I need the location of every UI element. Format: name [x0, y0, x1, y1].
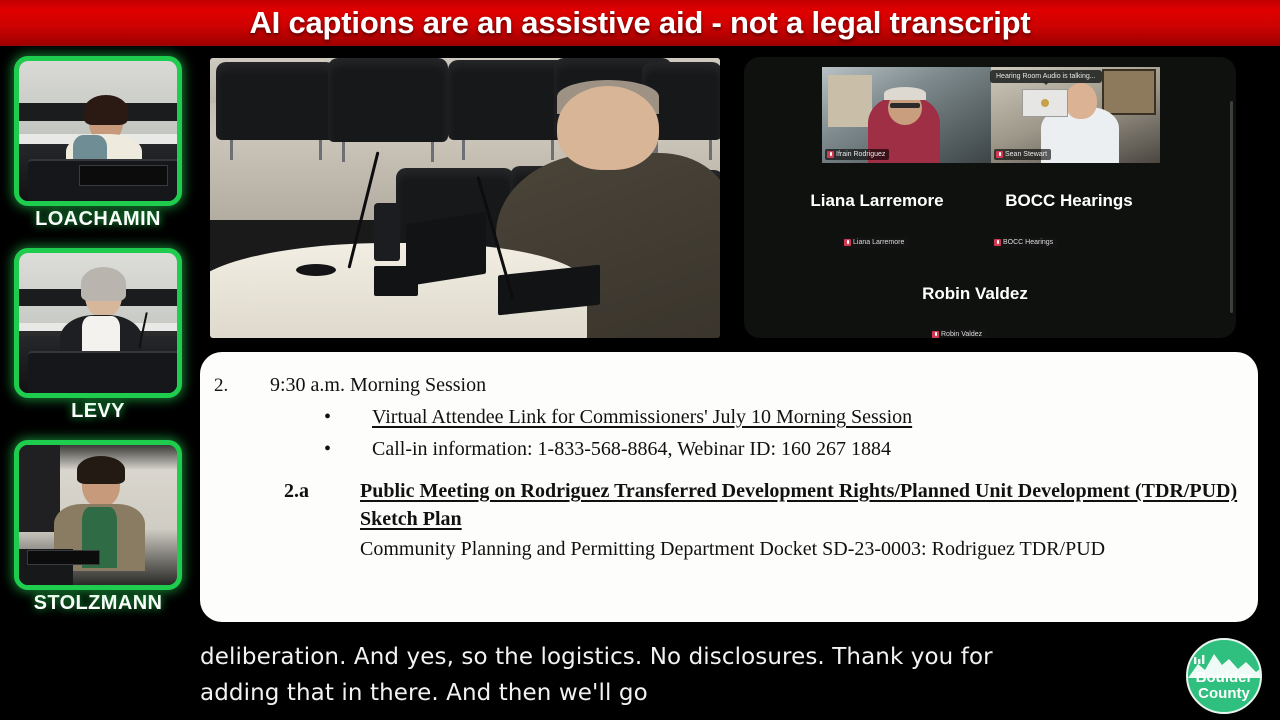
commissioner-video-loachamin	[14, 56, 182, 206]
zoom-participant-grid[interactable]: Ifrain Rodriguez Sean Stewart Hearing Ro…	[744, 57, 1236, 338]
hearing-room-audio-thumbnail	[1022, 89, 1068, 117]
commissioner-tile-stolzmann[interactable]: STOLZMANN	[14, 440, 182, 615]
virtual-attendee-link[interactable]: Virtual Attendee Link for Commissioners'…	[372, 406, 912, 429]
agenda-bullet-virtual-link: • Virtual Attendee Link for Commissioner…	[214, 406, 1242, 429]
agenda-subitem-2a: 2.a Public Meeting on Rodriguez Transfer…	[214, 478, 1242, 533]
logo-text: Boulder County	[1188, 670, 1260, 701]
chair	[328, 58, 448, 142]
live-caption-area: deliberation. And yes, so the logistics.…	[200, 640, 1080, 711]
commissioner-thumbnail-strip: LOACHAMIN LEVY	[0, 52, 196, 630]
zoom-participant-name-liana-larremore: Liana Larremore	[782, 191, 972, 211]
commissioner-video-stolzmann	[14, 440, 182, 590]
chair	[448, 60, 568, 140]
mic-muted-icon	[827, 151, 834, 158]
commissioner-tile-levy[interactable]: LEVY	[14, 248, 182, 423]
commissioner-tile-loachamin[interactable]: LOACHAMIN	[14, 56, 182, 231]
commissioner-name-loachamin: LOACHAMIN	[14, 208, 182, 231]
boulder-county-logo: Boulder County	[1186, 638, 1262, 714]
camera-scene	[19, 61, 177, 201]
camera-scene	[19, 253, 177, 393]
zoom-video-tile-row: Ifrain Rodriguez Sean Stewart Hearing Ro…	[822, 67, 1160, 163]
zoom-tile-ifrain-rodriguez[interactable]: Ifrain Rodriguez	[822, 67, 991, 163]
room-shelf	[828, 75, 872, 127]
zoom-participant-name-robin-valdez: Robin Valdez	[880, 284, 1070, 304]
callin-information: Call-in information: 1-833-568-8864, Web…	[372, 438, 891, 461]
participant-cap	[884, 87, 926, 100]
participant-head	[1065, 83, 1097, 119]
participant-glasses	[890, 103, 920, 108]
agenda-bullet-callin-info: • Call-in information: 1-833-568-8864, W…	[214, 438, 1242, 461]
wall-art	[1102, 69, 1156, 115]
logo-line-2: County	[1188, 686, 1260, 702]
microphone-base	[296, 264, 336, 276]
mic-muted-icon	[996, 151, 1003, 158]
agenda-item-title: 9:30 a.m. Morning Session	[270, 374, 486, 397]
agenda-document-panel: 2. 9:30 a.m. Morning Session • Virtual A…	[200, 352, 1258, 622]
zoom-tile-name-label: Ifrain Rodriguez	[825, 149, 889, 160]
speaker-head	[557, 86, 659, 170]
mic-muted-icon	[844, 239, 851, 246]
zoom-tile-name-label: Sean Stewart	[994, 149, 1051, 160]
mic-muted-icon	[994, 239, 1001, 246]
logo-line-1: Boulder	[1188, 670, 1260, 686]
subitem-description: Community Planning and Permitting Depart…	[214, 538, 1242, 561]
ai-caption-disclaimer-banner: AI captions are an assistive aid - not a…	[0, 0, 1280, 48]
main-hearing-room-video[interactable]	[210, 58, 720, 338]
commissioner-name-stolzmann: STOLZMANN	[14, 592, 182, 615]
subitem-title[interactable]: Public Meeting on Rodriguez Transferred …	[360, 478, 1242, 533]
caption-line-1: deliberation. And yes, so the logistics.…	[200, 640, 1080, 676]
agenda-item-2: 2. 9:30 a.m. Morning Session	[214, 374, 1242, 397]
bullet-marker: •	[324, 439, 372, 459]
broadcast-screen: AI captions are an assistive aid - not a…	[0, 0, 1280, 720]
laptop	[406, 212, 486, 287]
active-speaker-tooltip: Hearing Room Audio is talking...	[990, 70, 1102, 83]
mic-muted-icon	[932, 331, 939, 338]
banner-text: AI captions are an assistive aid - not a…	[249, 5, 1030, 41]
camera-scene	[19, 445, 177, 585]
water-bottle	[374, 203, 400, 261]
zoom-grid-scrollbar[interactable]	[1230, 101, 1233, 313]
bullet-marker: •	[324, 407, 372, 427]
commissioner-video-levy	[14, 248, 182, 398]
zoom-participant-name-bocc-hearings: BOCC Hearings	[974, 191, 1164, 211]
document-tray	[374, 266, 418, 296]
subitem-number: 2.a	[284, 480, 360, 503]
zoom-name-label-liana-larremore: Liana Larremore	[842, 237, 908, 248]
agenda-item-number: 2.	[214, 375, 270, 397]
chair	[216, 62, 336, 140]
commissioner-name-levy: LEVY	[14, 400, 182, 423]
caption-line-2: adding that in there. And then we'll go	[200, 676, 1080, 712]
zoom-name-label-bocc-hearings: BOCC Hearings	[992, 237, 1057, 248]
zoom-name-label-robin-valdez: Robin Valdez	[930, 329, 986, 338]
